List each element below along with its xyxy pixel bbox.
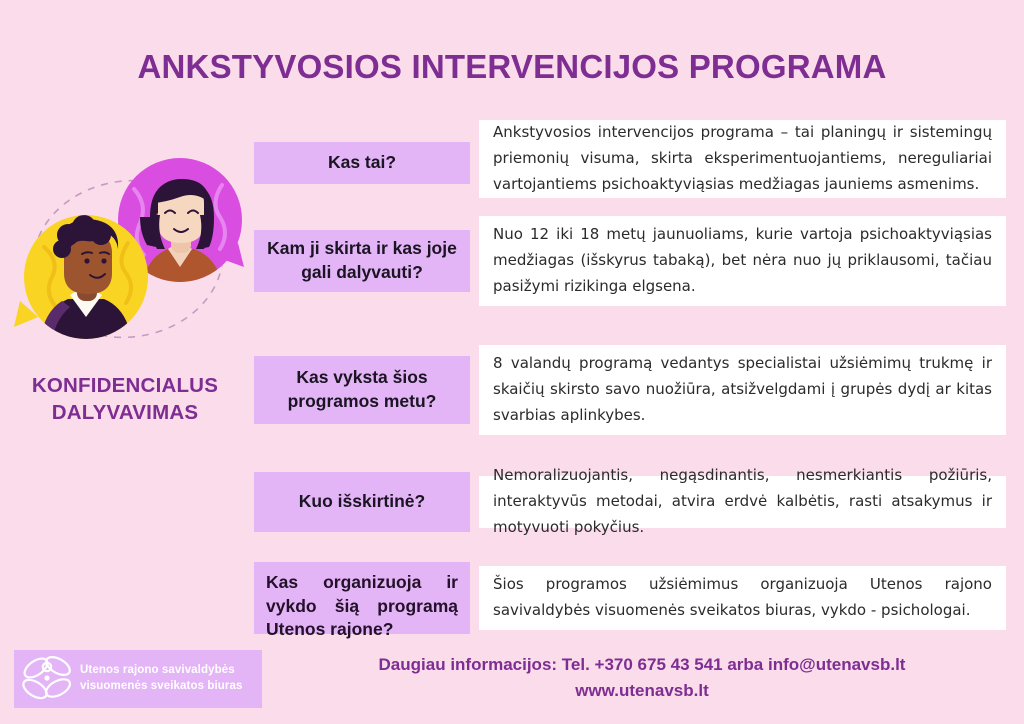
- organization-logo: Utenos rajono savivaldybės visuomenės sv…: [14, 650, 262, 708]
- dragonfly-icon: [20, 654, 74, 704]
- question-text-3: Kas vyksta šios programos metu?: [254, 366, 470, 413]
- answer-text-3: 8 valandų programą vedantys specialistai…: [479, 351, 1006, 428]
- qa-row-2: Kam ji skirta ir kas joje gali dalyvauti…: [254, 216, 1006, 306]
- speech-bubble-illustration: [8, 155, 248, 370]
- confidential-line-2: DALYVAVIMAS: [0, 399, 250, 426]
- logo-text-line-2: visuomenės sveikatos biuras: [80, 679, 243, 695]
- logo-text-line-1: Utenos rajono savivaldybės: [80, 663, 243, 679]
- man-bubble: [14, 215, 148, 343]
- confidential-caption: KONFIDENCIALUS DALYVAVIMAS: [0, 372, 250, 426]
- answer-text-5: Šios programos užsiėmimus organizuoja Ut…: [479, 572, 1006, 624]
- question-box-1: Kas tai?: [254, 142, 470, 184]
- answer-box-2: Nuo 12 iki 18 metų jaunuoliams, kurie va…: [479, 216, 1006, 306]
- contact-phone-email[interactable]: Daugiau informacijos: Tel. +370 675 43 5…: [280, 652, 1004, 678]
- answer-box-3: 8 valandų programą vedantys specialistai…: [479, 345, 1006, 435]
- contact-website[interactable]: www.utenavsb.lt: [280, 678, 1004, 704]
- question-box-4: Kuo išskirtinė?: [254, 472, 470, 532]
- logo-text: Utenos rajono savivaldybės visuomenės sv…: [80, 663, 243, 694]
- question-box-2: Kam ji skirta ir kas joje gali dalyvauti…: [254, 230, 470, 292]
- answer-text-4: Nemoralizuojantis, negąsdinantis, nesmer…: [479, 463, 1006, 540]
- question-box-3: Kas vyksta šios programos metu?: [254, 356, 470, 424]
- qa-row-3: Kas vyksta šios programos metu? 8 valand…: [254, 345, 1006, 435]
- confidential-line-1: KONFIDENCIALUS: [0, 372, 250, 399]
- answer-box-4: Nemoralizuojantis, negąsdinantis, nesmer…: [479, 476, 1006, 528]
- footer-contact: Daugiau informacijos: Tel. +370 675 43 5…: [280, 652, 1004, 705]
- answer-text-2: Nuo 12 iki 18 metų jaunuoliams, kurie va…: [479, 222, 1006, 299]
- question-text-2: Kam ji skirta ir kas joje gali dalyvauti…: [254, 237, 470, 284]
- page-title: ANKSTYVOSIOS INTERVENCIJOS PROGRAMA: [0, 48, 1024, 86]
- answer-box-1: Ankstyvosios intervencijos programa – ta…: [479, 120, 1006, 198]
- qa-row-1: Kas tai? Ankstyvosios intervencijos prog…: [254, 120, 1006, 198]
- answer-box-5: Šios programos užsiėmimus organizuoja Ut…: [479, 566, 1006, 630]
- qa-row-5: Kas organizuoja ir vykdo šią programą Ut…: [254, 562, 1006, 634]
- question-text-5: Kas organizuoja ir vykdo šią programą Ut…: [254, 562, 470, 651]
- infographic-page: ANKSTYVOSIOS INTERVENCIJOS PROGRAMA: [0, 0, 1024, 724]
- question-text-1: Kas tai?: [318, 151, 406, 175]
- qa-row-4: Kuo išskirtinė? Nemoralizuojantis, negąs…: [254, 472, 1006, 532]
- question-text-4: Kuo išskirtinė?: [289, 490, 435, 514]
- answer-text-1: Ankstyvosios intervencijos programa – ta…: [479, 120, 1006, 197]
- question-box-5: Kas organizuoja ir vykdo šią programą Ut…: [254, 562, 470, 634]
